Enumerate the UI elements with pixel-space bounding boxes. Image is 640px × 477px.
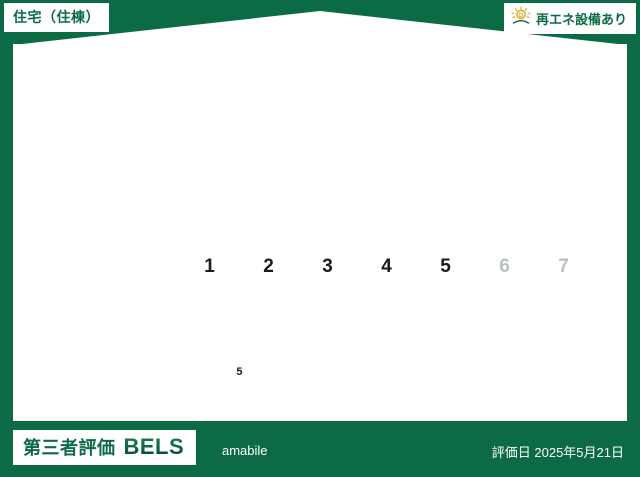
bels-logo-text: BELS — [124, 434, 185, 460]
insulation-grade-value: 4 — [381, 256, 392, 278]
renewable-equipment-tag: D 再エネ設備あり — [504, 3, 636, 34]
inline-grade-chip: 5 — [230, 365, 249, 382]
insulation-grade-value: 2 — [263, 256, 274, 278]
insulation-grade-value: 6 — [499, 256, 510, 278]
label-footer: 第三者評価 BELS amabile 評価日 2025年5月21日 — [0, 421, 640, 477]
property-name: amabile — [222, 443, 268, 458]
bels-badge: 第三者評価 BELS — [13, 430, 196, 465]
bels-jp-label: 第三者評価 — [23, 434, 116, 460]
renewable-equipment-label: 再エネ設備あり — [536, 9, 627, 28]
insulation-grade-value: 5 — [440, 256, 451, 278]
insulation-grade-value: 3 — [322, 256, 333, 278]
insulation-grade-value: 7 — [558, 256, 569, 278]
solar-sun-icon: D — [510, 6, 532, 31]
building-type-tag: 住宅（住棟） — [4, 3, 109, 32]
evaluation-date: 評価日 2025年5月21日 — [492, 442, 624, 461]
svg-text:D: D — [519, 13, 524, 19]
building-type-label: 住宅（住棟） — [13, 9, 100, 25]
label-card — [13, 11, 627, 421]
energy-performance-label: 住宅（住棟） D 再エネ設備あり 建築物省エネ法に基づく — [0, 0, 640, 477]
inline-grade-value: 5 — [230, 364, 249, 381]
insulation-grade-value: 1 — [204, 256, 215, 278]
